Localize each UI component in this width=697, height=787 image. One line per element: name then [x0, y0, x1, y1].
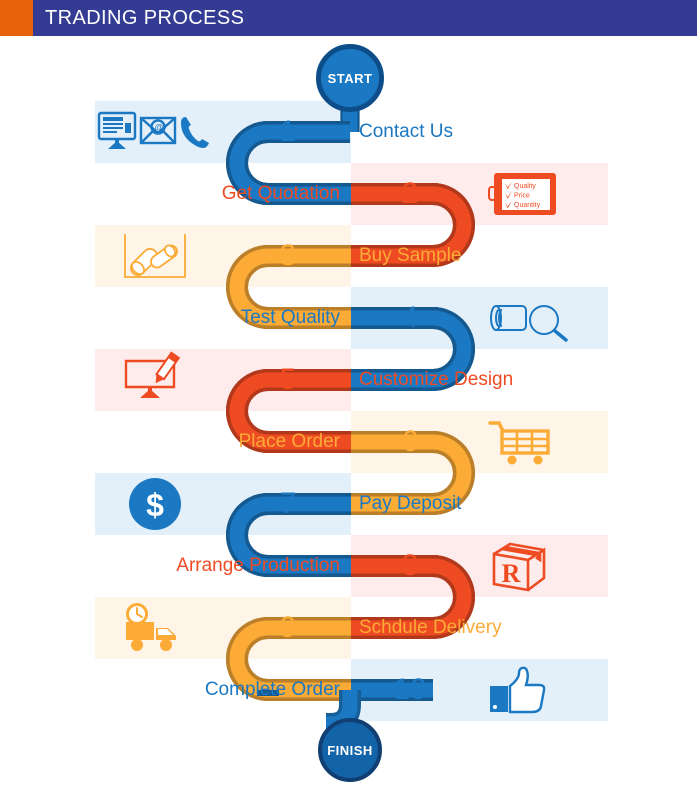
thumbs-up-icon [488, 664, 550, 716]
delivery-truck-clock-icon [118, 602, 192, 654]
finish-label: FINISH [327, 743, 373, 758]
clipboard-checklist-icon: Quality Price Quantity [480, 163, 600, 225]
header: TRADING PROCESS [0, 0, 697, 36]
header-accent-block [0, 0, 33, 36]
step-number: 1 [258, 101, 318, 163]
clipboard-checklist-icon: Quality Price Quantity [488, 170, 568, 218]
step-number: 2 [380, 163, 440, 225]
sample-rolls-box-icon [95, 225, 215, 287]
step-number: 8 [380, 535, 440, 597]
carton-box-r-logo-icon: R [488, 540, 550, 592]
step-row[interactable]: R 8Arrange Production [0, 535, 697, 597]
step-number: 7 [258, 473, 318, 535]
svg-text:$: $ [146, 487, 164, 523]
step-label: Complete Order [120, 659, 350, 721]
step-label: Get Quotation [120, 163, 350, 225]
step-label: Customize Design [351, 349, 581, 411]
svg-text:@: @ [154, 122, 163, 132]
dollar-coin-icon: $ [127, 476, 183, 532]
step-label: Arrange Production [120, 535, 350, 597]
step-label: Schdule Delivery [351, 597, 581, 659]
svg-text:Quantity: Quantity [514, 202, 541, 209]
step-label: Test Quality [120, 287, 350, 349]
step-number: 4 [380, 287, 440, 349]
shopping-cart-icon [488, 419, 554, 465]
dollar-coin-icon: $ [95, 473, 215, 535]
step-row[interactable]: 5Customize Design [0, 349, 697, 411]
step-row[interactable]: 6Place Order [0, 411, 697, 473]
step-number: 5 [258, 349, 318, 411]
step-label: Contact Us [351, 101, 581, 163]
svg-text:Price: Price [514, 193, 530, 200]
svg-text:R: R [502, 559, 521, 588]
step-row[interactable]: Quality Price Quantity 2Get Quotation [0, 163, 697, 225]
step-row[interactable]: 9Schdule Delivery [0, 597, 697, 659]
fabric-roll-magnifier-icon [488, 294, 574, 342]
monitor-pencil-design-icon [95, 349, 215, 411]
fabric-roll-magnifier-icon [480, 287, 600, 349]
svg-text:Quality: Quality [514, 183, 536, 190]
step-label: Place Order [120, 411, 350, 473]
step-row[interactable]: $ 7Pay Deposit [0, 473, 697, 535]
page-title: TRADING PROCESS [45, 7, 244, 30]
sample-rolls-box-icon [119, 231, 191, 281]
delivery-truck-clock-icon [95, 597, 215, 659]
step-row[interactable]: 3Buy Sample [0, 225, 697, 287]
step-label: Pay Deposit [351, 473, 581, 535]
finish-marker: FINISH [318, 718, 382, 782]
step-label: Buy Sample [351, 225, 581, 287]
header-bar: TRADING PROCESS [33, 0, 697, 36]
monitor-pencil-design-icon [120, 355, 190, 405]
contact-channels-icon: @ [95, 101, 215, 163]
step-number: 10 [380, 659, 440, 721]
start-label: START [328, 71, 373, 86]
step-number: 3 [258, 225, 318, 287]
step-row[interactable]: 10Complete Order [0, 659, 697, 721]
step-number: 6 [380, 411, 440, 473]
step-row[interactable]: 4Test Quality [0, 287, 697, 349]
trading-process-infographic: TRADING PROCESS [0, 0, 697, 787]
thumbs-up-icon [480, 659, 600, 721]
carton-box-r-logo-icon: R [480, 535, 600, 597]
step-number: 9 [258, 597, 318, 659]
contact-channels-icon: @ [96, 109, 214, 155]
start-marker: START [316, 44, 384, 112]
shopping-cart-icon [480, 411, 600, 473]
